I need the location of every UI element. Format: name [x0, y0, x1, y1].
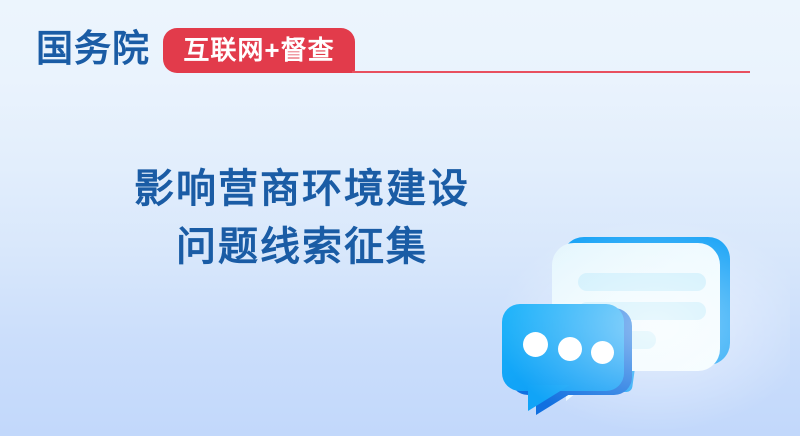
gov-council-logo: 国务院 [36, 27, 150, 71]
campaign-badge-label: 互联网+督查 [163, 28, 355, 73]
banner-header: 国务院 互联网+督查 [0, 0, 800, 90]
typing-dot-icon [591, 341, 614, 364]
typing-dot-icon [558, 337, 582, 361]
small-chat-bubble-tail-icon [528, 385, 570, 411]
campaign-badge: 互联网+督查 [163, 28, 355, 73]
header-divider-rule [352, 71, 750, 73]
typing-dot-icon [523, 332, 548, 357]
promo-banner: 国务院 互联网+督查 影响营商环境建设 问题线索征集 [0, 0, 800, 436]
bubble-text-line-icon [578, 273, 706, 291]
chat-bubbles-illustration [480, 215, 800, 436]
page-title-line-1: 影响营商环境建设 [42, 160, 562, 218]
